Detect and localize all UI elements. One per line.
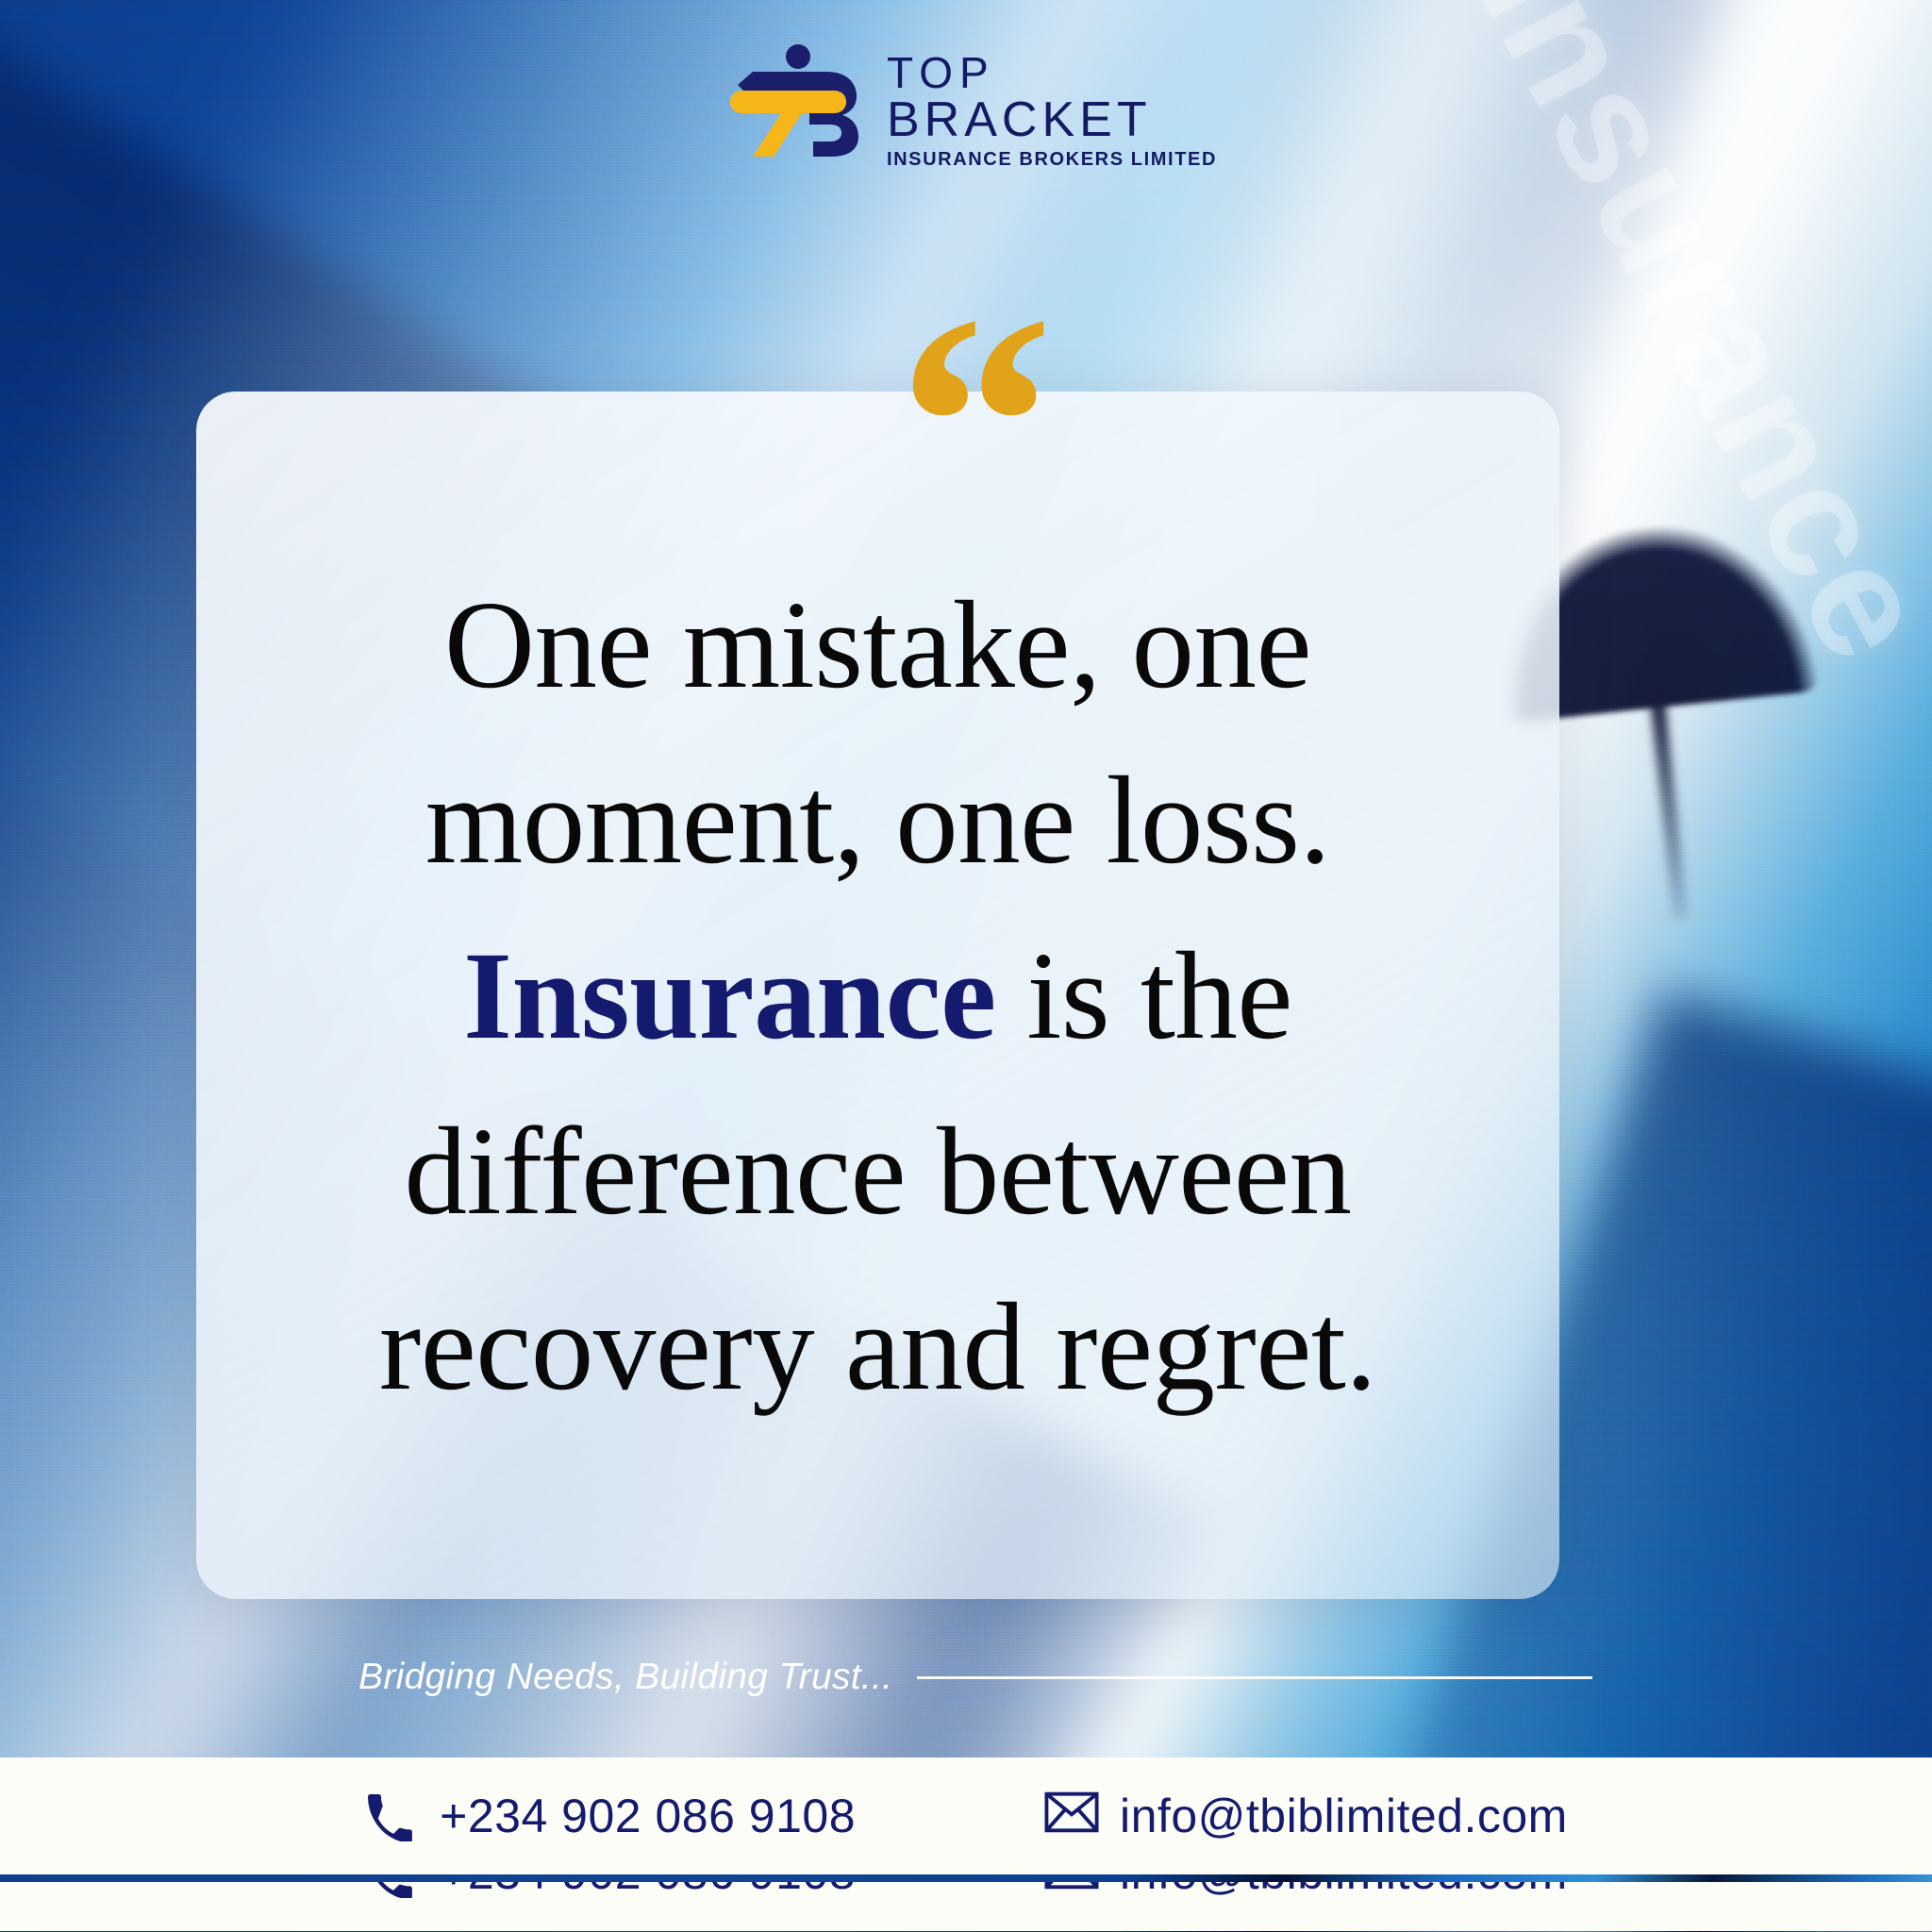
phone-icon xyxy=(364,1790,415,1841)
quote-line-4: difference between xyxy=(405,1101,1352,1241)
email-address-repeat: info@tbiblimited.com xyxy=(1120,1882,1568,1900)
quote-card: One mistake, one moment, one loss. Insur… xyxy=(196,391,1559,1599)
tagline-divider xyxy=(917,1676,1592,1679)
quote-highlight-word: Insurance xyxy=(463,925,996,1065)
quote-line-5: recovery and regret. xyxy=(379,1276,1376,1416)
brand-logo: TOP BRACKET INSURANCE BROKERS LIMITED xyxy=(0,43,1932,171)
brand-subtitle: INSURANCE BROKERS LIMITED xyxy=(887,149,1217,171)
quote-line-1: One mistake, one xyxy=(444,575,1311,714)
tb-monogram-icon xyxy=(715,43,866,157)
contact-footer: +234 902 086 9108 info@tbiblimited.com xyxy=(0,1757,1932,1874)
tagline-text: Bridging Needs, Building Trust... xyxy=(358,1657,892,1698)
quote-text: One mistake, one moment, one loss. Insur… xyxy=(196,557,1559,1435)
phone-icon-repeat xyxy=(364,1882,415,1898)
quote-line-3-tail: is the xyxy=(996,925,1292,1065)
contact-footer-repeat: +234 902 086 9108 info@tbiblimited.com xyxy=(0,1882,1932,1932)
tagline-row: Bridging Needs, Building Trust... xyxy=(0,1657,1932,1698)
phone-number-repeat: +234 902 086 9108 xyxy=(440,1882,856,1900)
contact-email[interactable]: info@tbiblimited.com xyxy=(1044,1789,1568,1843)
phone-number: +234 902 086 9108 xyxy=(440,1789,856,1843)
brand-name-line1: TOP xyxy=(887,51,1217,95)
brand-wordmark: TOP BRACKET INSURANCE BROKERS LIMITED xyxy=(887,43,1217,171)
envelope-icon-repeat xyxy=(1044,1882,1095,1898)
quote-line-2: moment, one loss. xyxy=(425,750,1330,890)
contact-email-repeat: info@tbiblimited.com xyxy=(1044,1882,1568,1900)
envelope-icon xyxy=(1044,1790,1095,1841)
brand-name-line2: BRACKET xyxy=(887,95,1217,145)
open-quote-icon: “ xyxy=(898,328,1048,522)
contact-phone-repeat: +234 902 086 9108 xyxy=(364,1882,856,1900)
contact-phone[interactable]: +234 902 086 9108 xyxy=(364,1789,856,1843)
email-address: info@tbiblimited.com xyxy=(1120,1789,1568,1843)
